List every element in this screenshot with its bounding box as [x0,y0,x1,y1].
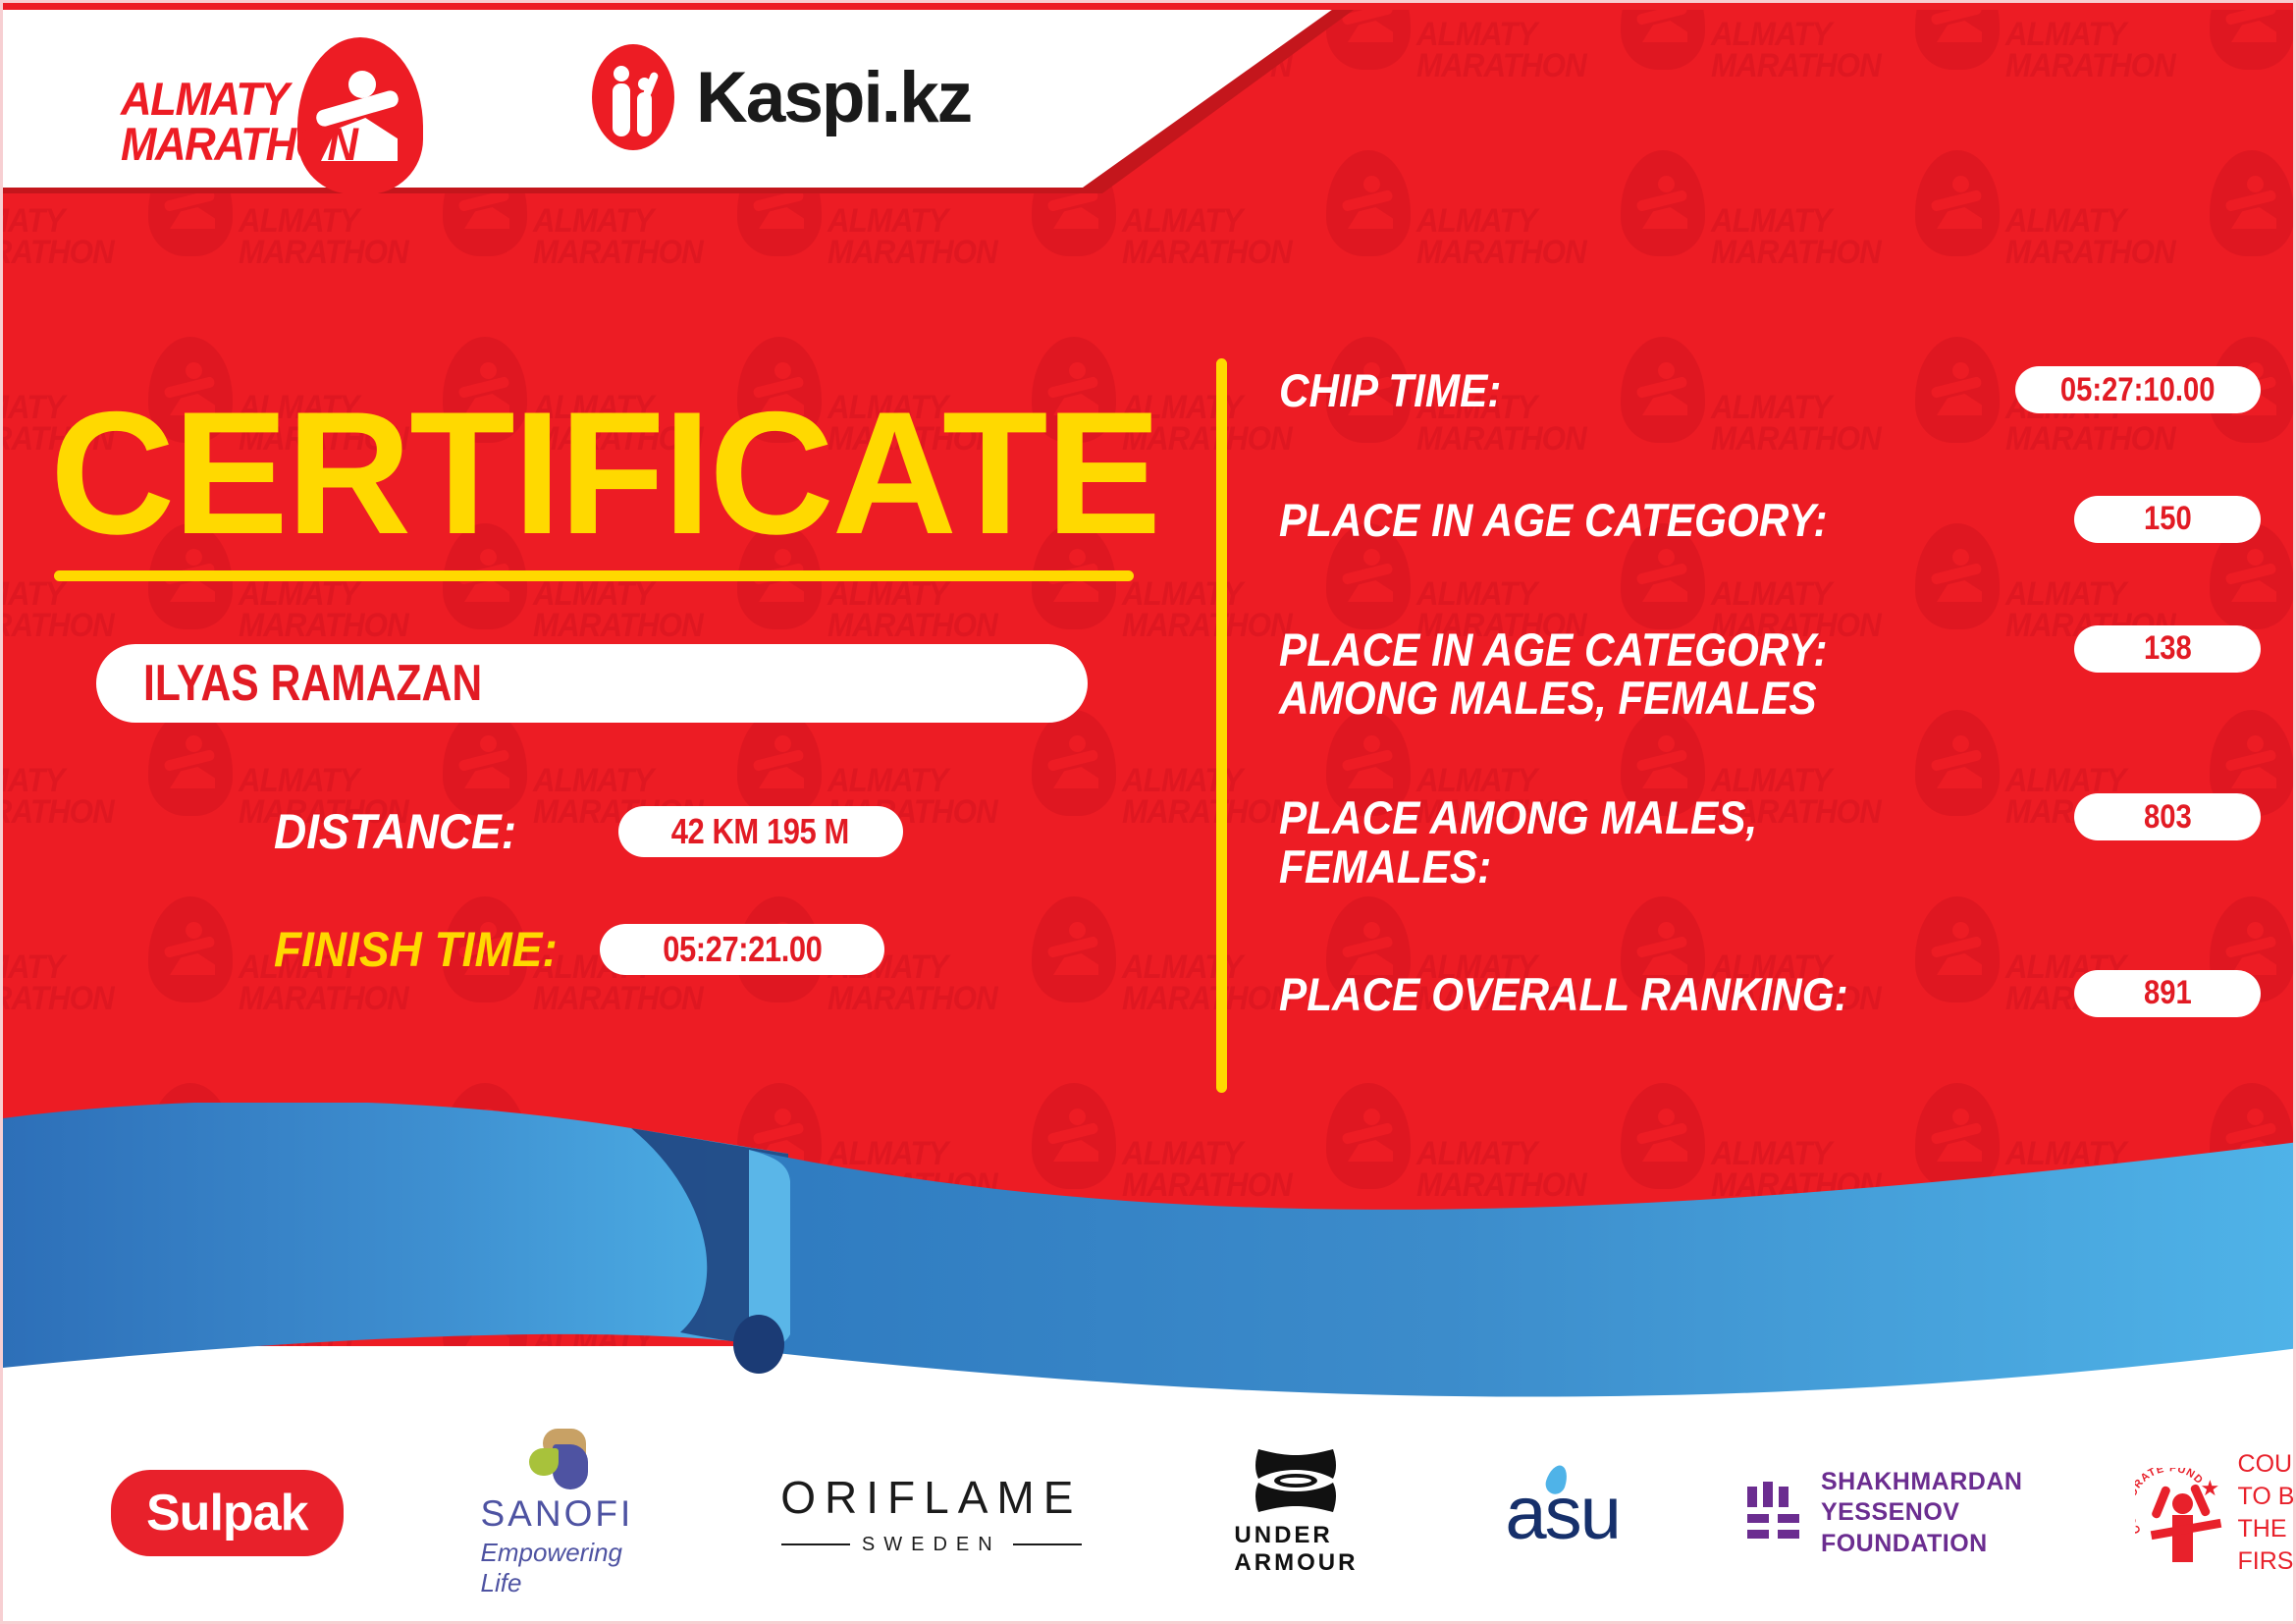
finish-time-row: FINISH TIME: 05:27:21.00 [274,921,884,978]
participant-name-value: ILYAS RAMAZAN [143,654,482,713]
sponsor-oriflame: ORIFLAME SWEDEN [780,1471,1082,1556]
finish-time-label: FINISH TIME: [274,921,558,978]
distance-value: 42 KM 195 M [671,811,849,852]
sponsor-yessenov-foundation: SHAKHMARDAN YESSENOV FOUNDATION [1747,1467,2028,1559]
under-armour-icon [1241,1449,1351,1512]
age-category-gender-label: PLACE IN AGE CATEGORY: AMONG MALES, FEMA… [1279,625,1828,724]
chip-time-label: CHIP TIME: [1279,366,1501,415]
oriflame-wordmark: ORIFLAME [780,1471,1082,1524]
age-category-gender-badge: 138 [2074,625,2261,673]
finish-time-badge: 05:27:21.00 [600,924,884,975]
courage-fund-icon: CORPORATE FUND ★ [2135,1462,2221,1564]
result-row-age-category: PLACE IN AGE CATEGORY: 150 [1279,496,2261,545]
chip-time-badge: 05:27:10.00 [2015,366,2261,413]
yellow-vertical-divider [1216,358,1227,1093]
result-row-overall-ranking: PLACE OVERALL RANKING: 891 [1279,970,2261,1019]
sponsor-sulpak: Sulpak [111,1470,344,1556]
sponsor-asu: asu [1505,1471,1620,1556]
certificate-canvas: ALMATYMARATHONALMATYMARATHONALMATYMARATH… [0,0,2296,1624]
sanofi-icon [521,1429,592,1489]
sponsor-logos: Sulpak SANOFI Empowering Life ORIFLAME S… [3,1435,2293,1592]
age-category-gender-value: 138 [2144,629,2192,668]
results-column: CHIP TIME: 05:27:10.00 PLACE IN AGE CATE… [1279,366,2261,1019]
sanofi-wordmark: SANOFI [481,1493,634,1535]
distance-label: DISTANCE: [274,803,516,860]
title-underline [54,570,1134,581]
result-row-chip-time: CHIP TIME: 05:27:10.00 [1279,366,2261,415]
courage-fund-slogan: COURAGE TO BE THE FIRST! [2238,1448,2296,1578]
gender-place-label: PLACE AMONG MALES, FEMALES: [1279,793,1757,892]
page-title: CERTIFICATE [50,386,1159,561]
overall-ranking-value: 891 [2144,974,2192,1012]
finish-time-value: 05:27:21.00 [663,929,822,970]
sulpak-wordmark: Sulpak [146,1485,308,1542]
overall-ranking-badge: 891 [2074,970,2261,1017]
distance-row: DISTANCE: 42 KM 195 M [274,803,903,860]
asu-logo: asu [1505,1471,1620,1556]
chip-time-value: 05:27:10.00 [2060,371,2216,409]
sponsor-sanofi: SANOFI Empowering Life [481,1429,634,1598]
age-category-value: 150 [2144,500,2192,538]
oriflame-country: SWEDEN [862,1534,1001,1556]
gender-place-value: 803 [2144,798,2192,837]
result-row-age-category-gender: PLACE IN AGE CATEGORY: AMONG MALES, FEMA… [1279,625,2261,724]
distance-badge: 42 KM 195 M [618,806,903,857]
sanofi-tagline: Empowering Life [481,1538,634,1598]
sulpak-logo: Sulpak [111,1470,344,1556]
ribbon-shape [3,1103,2296,1427]
overall-ranking-label: PLACE OVERALL RANKING: [1279,970,1848,1019]
under-armour-wordmark: UNDER ARMOUR [1234,1522,1358,1577]
event-ribbon: APRIL 21 st RUN FOR SENSATIONS [3,1103,2296,1427]
courage-runner-icon: ★ [2157,1478,2217,1562]
gender-place-badge: 803 [2074,793,2261,840]
oriflame-subline: SWEDEN [781,1534,1082,1556]
sponsor-courage-fund: CORPORATE FUND ★ COURAGE TO BE THE FIRST… [2135,1448,2296,1578]
age-category-badge: 150 [2074,496,2261,543]
result-row-gender-place: PLACE AMONG MALES, FEMALES: 803 [1279,793,2261,892]
yessenov-wordmark: SHAKHMARDAN YESSENOV FOUNDATION [1821,1467,2028,1559]
age-category-label: PLACE IN AGE CATEGORY: [1279,496,1828,545]
participant-name-field: ILYAS RAMAZAN [96,644,1088,723]
yessenov-bars-icon [1747,1482,1799,1545]
sponsor-under-armour: UNDER ARMOUR [1234,1449,1358,1577]
